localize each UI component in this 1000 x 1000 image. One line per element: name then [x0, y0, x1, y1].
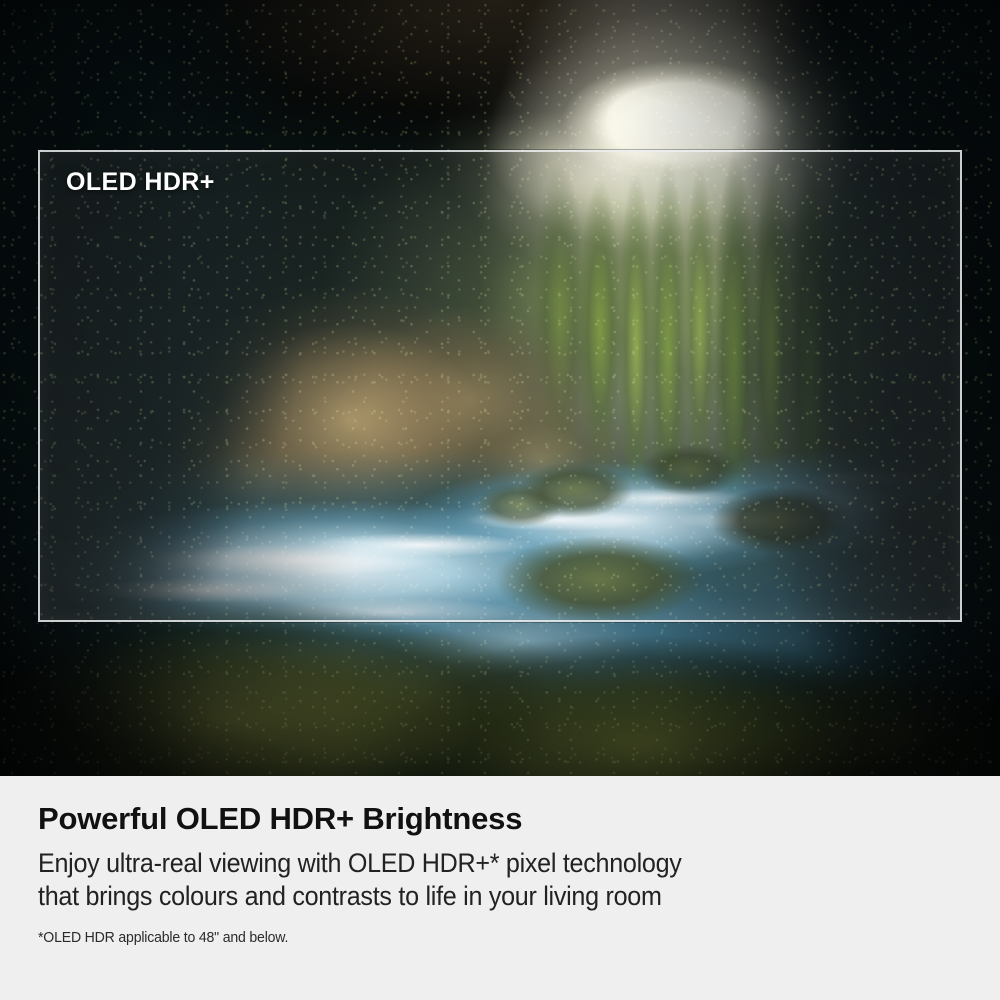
caption-inner: Powerful OLED HDR+ Brightness Enjoy ultr… — [0, 776, 1000, 947]
body-text-line-1: Enjoy ultra-real viewing with OLED HDR+*… — [38, 847, 897, 880]
page-title: Powerful OLED HDR+ Brightness — [38, 800, 962, 838]
product-feature-card: OLED HDR+ Powerful OLED HDR+ Brightness … — [0, 0, 1000, 1000]
caption-panel: Powerful OLED HDR+ Brightness Enjoy ultr… — [0, 776, 1000, 1000]
tv-screen-frame — [38, 150, 962, 622]
body-text-line-2: that brings colours and contrasts to lif… — [38, 880, 897, 913]
footnote-text: *OLED HDR applicable to 48" and below. — [38, 928, 907, 947]
oled-hdr-plus-overlay-label: OLED HDR+ — [66, 168, 215, 197]
feature-photo: OLED HDR+ — [0, 0, 1000, 776]
